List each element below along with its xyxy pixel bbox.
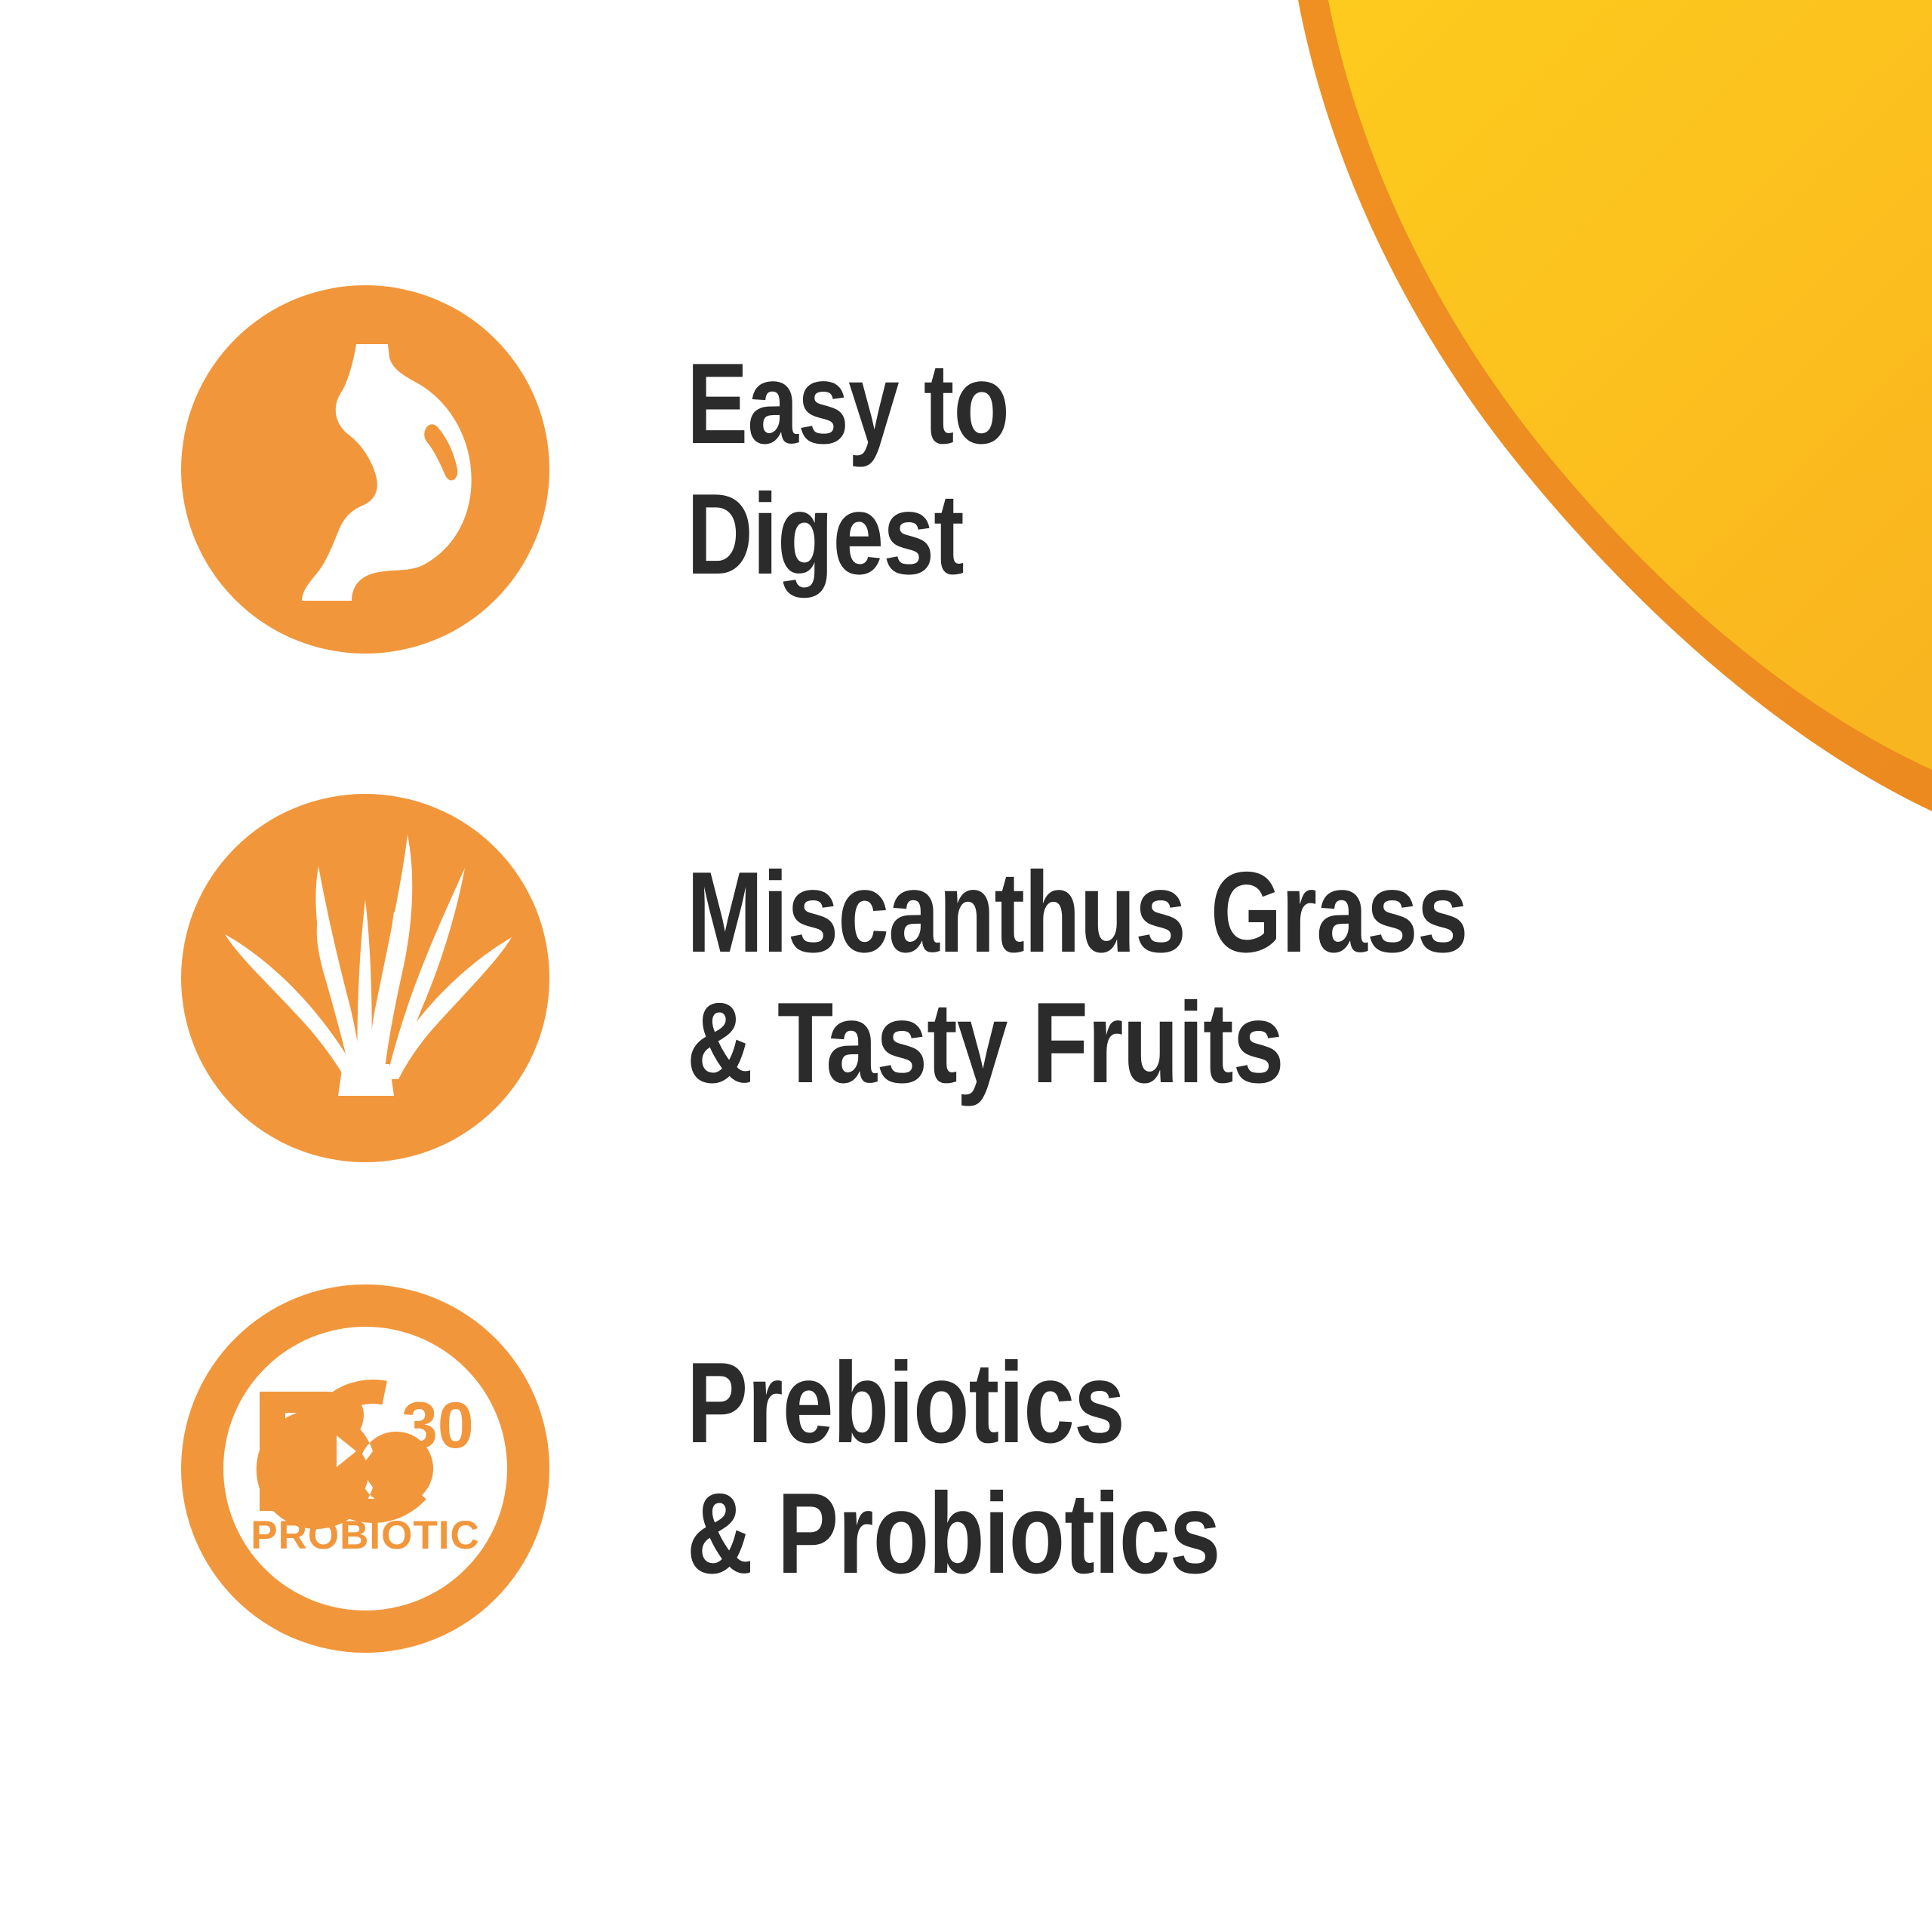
benefit-label: Easy to Digest	[687, 339, 1009, 601]
stomach-icon	[181, 285, 549, 654]
benefit-row: POWERED BY DIGESTIVE & IMMUNE HEALTH	[181, 1284, 1353, 1653]
grass-icon	[181, 794, 549, 1162]
benefit-label-line: Digest	[687, 469, 1009, 600]
benefit-label-line: Miscanthus Grass	[687, 848, 1468, 978]
benefit-label: Prebiotics & Probiotics	[687, 1338, 1220, 1600]
badge-subtitle: PROBIOTIC	[251, 1513, 479, 1558]
benefits-list: Easy to Digest	[0, 0, 1932, 1932]
benefit-row: Miscanthus Grass & Tasty Fruits	[181, 794, 1663, 1162]
benefit-label-line: & Probiotics	[687, 1469, 1220, 1599]
bc30-probiotic-badge-icon: POWERED BY DIGESTIVE & IMMUNE HEALTH	[181, 1284, 549, 1653]
benefit-row: Easy to Digest	[181, 285, 1090, 654]
benefit-label-line: Easy to	[687, 339, 1009, 469]
benefit-label-line: Prebiotics	[687, 1338, 1220, 1469]
benefit-label: Miscanthus Grass & Tasty Fruits	[687, 848, 1468, 1109]
benefit-label-line: & Tasty Fruits	[687, 978, 1468, 1109]
badge-superscript: 30	[401, 1389, 474, 1462]
